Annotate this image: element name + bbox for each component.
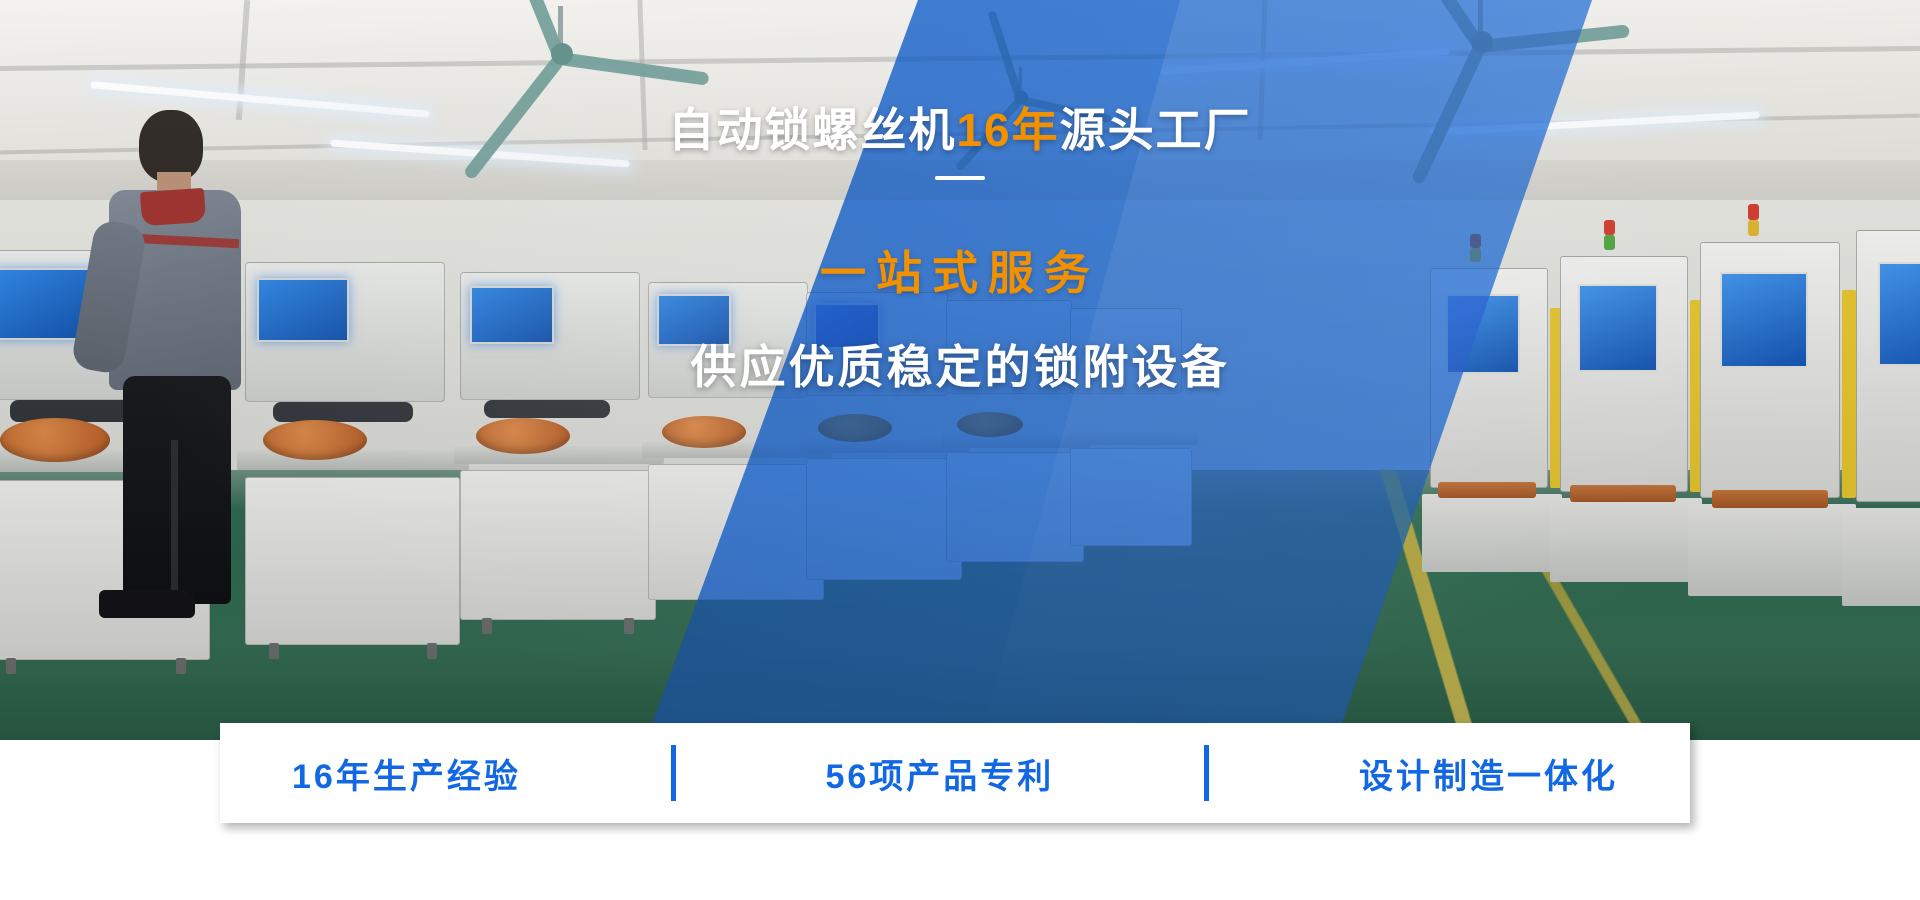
feature-bar: 16年生产经验 56项产品专利 设计制造一体化 — [220, 723, 1690, 823]
feature-item-experience: 16年生产经验 — [292, 749, 521, 798]
headline-divider-rule — [935, 176, 985, 180]
headline-accent: 16年 — [956, 104, 1059, 156]
promo-banner: 自动锁螺丝机16年源头工厂 一站式服务 供应优质稳定的锁附设备 16年生产经验 … — [0, 0, 1920, 900]
feature-item-integration: 设计制造一体化 — [1359, 749, 1618, 798]
headline-trail: 源头工厂 — [1060, 104, 1252, 156]
headline-copy-block: 自动锁螺丝机16年源头工厂 一站式服务 供应优质稳定的锁附设备 — [0, 0, 1920, 740]
headline-lead: 自动锁螺丝机 — [668, 104, 956, 156]
headline: 自动锁螺丝机16年源头工厂 — [0, 105, 1920, 156]
tagline: 供应优质稳定的锁附设备 — [0, 342, 1920, 393]
feature-divider — [671, 745, 676, 801]
feature-item-patents: 56项产品专利 — [825, 749, 1054, 798]
feature-divider — [1204, 745, 1209, 801]
subline: 一站式服务 — [0, 248, 1920, 299]
